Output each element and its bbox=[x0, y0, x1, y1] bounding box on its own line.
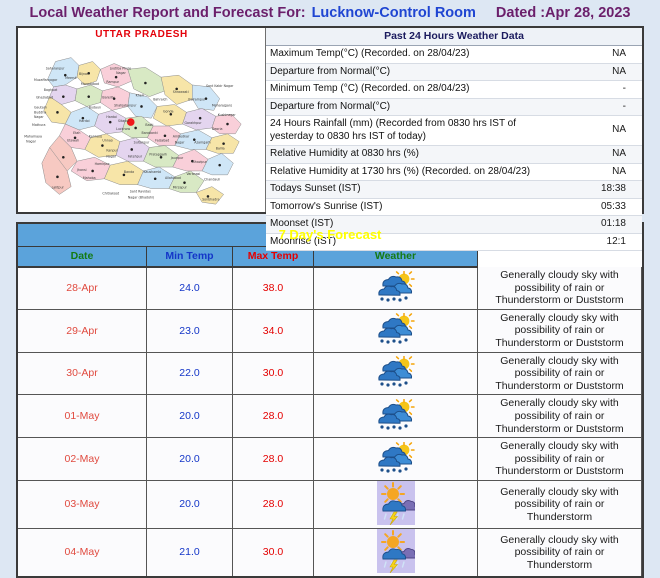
forecast-panel: 7 Day's Forecast Date Min Temp Max Temp … bbox=[16, 222, 644, 578]
forecast-description: Generally cloudy sky with possibility of… bbox=[478, 309, 642, 352]
column-header-date: Date bbox=[18, 247, 147, 267]
table-row: 24 Hours Rainfall (mm) (Recorded from 08… bbox=[266, 116, 642, 146]
forecast-date: 01-May bbox=[18, 395, 147, 438]
table-row: 02-May20.028.0Generally cloudy sky with … bbox=[18, 438, 642, 481]
svg-text:Ambedkar: Ambedkar bbox=[173, 135, 190, 139]
row-value: NA bbox=[560, 163, 642, 181]
svg-text:Mahamaya: Mahamaya bbox=[24, 135, 42, 139]
svg-text:Kannauj: Kannauj bbox=[89, 135, 102, 139]
table-row: 03-May20.028.0Generally cloudy sky with … bbox=[18, 480, 642, 528]
svg-text:Lalitpur: Lalitpur bbox=[52, 186, 65, 190]
row-value: 01:18 bbox=[560, 216, 642, 234]
svg-text:Unnao: Unnao bbox=[102, 139, 112, 143]
svg-text:Sant Ravidas: Sant Ravidas bbox=[130, 189, 151, 193]
svg-text:Gorakhpur: Gorakhpur bbox=[185, 121, 203, 125]
svg-text:Muzaffarnagar: Muzaffarnagar bbox=[34, 78, 58, 82]
svg-text:Mirzapur: Mirzapur bbox=[173, 186, 188, 190]
row-value: NA bbox=[560, 63, 642, 81]
forecast-min-temp: 20.0 bbox=[147, 438, 233, 481]
svg-text:Maharajganj: Maharajganj bbox=[212, 103, 232, 107]
forecast-date: 30-Apr bbox=[18, 352, 147, 395]
svg-text:Ballia: Ballia bbox=[216, 146, 225, 150]
title-location: Lucknow-Control Room bbox=[312, 5, 476, 21]
row-label: Todays Sunset (IST) bbox=[266, 181, 560, 199]
svg-text:Gonda: Gonda bbox=[163, 109, 174, 113]
forecast-min-temp: 20.0 bbox=[147, 480, 233, 528]
svg-text:Basti: Basti bbox=[145, 123, 153, 127]
table-row: Departure from Normal(°C) - bbox=[266, 98, 642, 116]
table-row: Todays Sunset (IST) 18:38 bbox=[266, 181, 642, 199]
svg-text:Hardoi: Hardoi bbox=[79, 119, 90, 123]
table-row: Relative Humidity at 0830 hrs (%) NA bbox=[266, 146, 642, 164]
forecast-date: 03-May bbox=[18, 480, 147, 528]
forecast-max-temp: 28.0 bbox=[233, 395, 314, 438]
svg-text:Nagar: Nagar bbox=[116, 71, 126, 75]
svg-text:Varanasi: Varanasi bbox=[186, 172, 200, 176]
svg-text:Etah: Etah bbox=[73, 131, 80, 135]
row-value: NA bbox=[560, 46, 642, 64]
svg-text:Faizabad: Faizabad bbox=[155, 139, 169, 143]
table-row: Maximum Temp(°C) (Recorded. on 28/04/23)… bbox=[266, 46, 642, 64]
svg-text:Mathura: Mathura bbox=[32, 123, 45, 127]
sun-behind-cloud-rain-icon bbox=[314, 395, 478, 438]
sun-behind-cloud-rain-icon bbox=[314, 309, 478, 352]
svg-text:Nagar: Nagar bbox=[175, 141, 185, 145]
svg-text:Pratapgarh: Pratapgarh bbox=[149, 152, 167, 156]
svg-text:Rampur: Rampur bbox=[106, 80, 119, 84]
row-label: 24 Hours Rainfall (mm) (Recorded from 08… bbox=[266, 116, 560, 146]
svg-text:Banda: Banda bbox=[124, 170, 134, 174]
past-24h-table: Past 24 Hours Weather Data Maximum Temp(… bbox=[266, 28, 642, 251]
sun-cloud-thunderstorm-icon bbox=[314, 480, 478, 528]
forecast-min-temp: 24.0 bbox=[147, 267, 233, 309]
forecast-min-temp: 23.0 bbox=[147, 309, 233, 352]
svg-text:Jyotiba Phule: Jyotiba Phule bbox=[109, 66, 131, 70]
column-header-min-temp: Min Temp bbox=[147, 247, 233, 267]
svg-text:Mahoba: Mahoba bbox=[83, 176, 96, 180]
svg-text:Allahabad: Allahabad bbox=[165, 176, 181, 180]
row-value: NA bbox=[560, 116, 642, 146]
forecast-description: Generally cloudy sky with possibility of… bbox=[478, 528, 642, 576]
svg-text:Ghazipur: Ghazipur bbox=[192, 160, 207, 164]
row-label: Minimum Temp (°C) (Recorded. on 28/04/23… bbox=[266, 81, 560, 99]
svg-text:Jhansi: Jhansi bbox=[76, 168, 87, 172]
row-value: 05:33 bbox=[560, 198, 642, 216]
svg-text:Gautam: Gautam bbox=[34, 105, 47, 109]
row-label: Departure from Normal(°C) bbox=[266, 63, 560, 81]
forecast-max-temp: 28.0 bbox=[233, 480, 314, 528]
svg-text:Nagar: Nagar bbox=[34, 115, 44, 119]
svg-text:Kushinagar: Kushinagar bbox=[218, 113, 237, 117]
svg-text:Fatehpur: Fatehpur bbox=[128, 154, 143, 158]
forecast-max-temp: 38.0 bbox=[233, 267, 314, 309]
svg-text:Nagar: Nagar bbox=[106, 154, 116, 158]
map-title: UTTAR PRADESH bbox=[18, 28, 265, 40]
forecast-description: Generally cloudy sky with possibility of… bbox=[478, 480, 642, 528]
svg-text:Nagar (Bhadohi): Nagar (Bhadohi) bbox=[128, 195, 154, 199]
forecast-date: 29-Apr bbox=[18, 309, 147, 352]
table-row: Relative Humidity at 1730 hrs (%) (Recor… bbox=[266, 163, 642, 181]
svg-text:Azamgarh: Azamgarh bbox=[194, 141, 210, 145]
row-label: Tomorrow's Sunrise (IST) bbox=[266, 198, 560, 216]
row-value: NA bbox=[560, 146, 642, 164]
title-date: Dated :Apr 28, 2023 bbox=[496, 5, 631, 21]
svg-text:Shrawasti: Shrawasti bbox=[173, 90, 189, 94]
table-row: 30-Apr22.030.0Generally cloudy sky with … bbox=[18, 352, 642, 395]
forecast-min-temp: 22.0 bbox=[147, 352, 233, 395]
sun-behind-cloud-rain-icon bbox=[314, 438, 478, 481]
forecast-date: 04-May bbox=[18, 528, 147, 576]
svg-text:Sonbhadra: Sonbhadra bbox=[202, 197, 219, 201]
svg-text:Sitapur: Sitapur bbox=[118, 119, 130, 123]
svg-text:Bareilly: Bareilly bbox=[102, 96, 114, 100]
forecast-table: Date Min Temp Max Temp Weather 28-Apr24.… bbox=[18, 247, 642, 576]
row-label: Relative Humidity at 0830 hrs (%) bbox=[266, 146, 560, 164]
map-cell: UTTAR PRADESH bbox=[18, 28, 266, 212]
svg-text:Chitrakoot: Chitrakoot bbox=[102, 191, 119, 195]
forecast-date: 02-May bbox=[18, 438, 147, 481]
forecast-date: 28-Apr bbox=[18, 267, 147, 309]
svg-text:Saharanpur: Saharanpur bbox=[46, 66, 65, 70]
table-row: Tomorrow's Sunrise (IST) 05:33 bbox=[266, 198, 642, 216]
row-value: - bbox=[560, 98, 642, 116]
svg-text:Meerut: Meerut bbox=[65, 76, 77, 80]
svg-text:Hardoi: Hardoi bbox=[106, 115, 117, 119]
forecast-min-temp: 20.0 bbox=[147, 395, 233, 438]
forecast-description: Generally cloudy sky with possibility of… bbox=[478, 352, 642, 395]
row-label: Maximum Temp(°C) (Recorded. on 28/04/23) bbox=[266, 46, 560, 64]
svg-text:Shahjahanpur: Shahjahanpur bbox=[114, 103, 137, 107]
uttar-pradesh-map: Saharanpur Muzaffarnagar Baghpat Ghaziab… bbox=[18, 40, 265, 212]
forecast-max-temp: 34.0 bbox=[233, 309, 314, 352]
row-value: - bbox=[560, 81, 642, 99]
forecast-description: Generally cloudy sky with possibility of… bbox=[478, 438, 642, 481]
table-row: 28-Apr24.038.0Generally cloudy sky with … bbox=[18, 267, 642, 309]
svg-text:Chandauli: Chandauli bbox=[204, 178, 220, 182]
forecast-max-temp: 28.0 bbox=[233, 438, 314, 481]
table-row: Departure from Normal(°C) NA bbox=[266, 63, 642, 81]
svg-text:Kheri: Kheri bbox=[136, 94, 144, 98]
svg-text:Sant Kabir Nagar: Sant Kabir Nagar bbox=[206, 84, 234, 88]
title-text: Local Weather Report and Forecast For: bbox=[29, 5, 305, 21]
row-label: Relative Humidity at 1730 hrs (%) (Recor… bbox=[266, 163, 560, 181]
svg-text:Budaun: Budaun bbox=[89, 105, 101, 109]
svg-text:Sultanpur: Sultanpur bbox=[134, 141, 150, 145]
svg-text:Balrampur: Balrampur bbox=[188, 98, 206, 102]
sun-behind-cloud-rain-icon bbox=[314, 267, 478, 309]
table-row: 01-May20.028.0Generally cloudy sky with … bbox=[18, 395, 642, 438]
forecast-max-temp: 30.0 bbox=[233, 528, 314, 576]
row-value: 12:1 bbox=[560, 233, 642, 251]
row-value: 18:38 bbox=[560, 181, 642, 199]
forecast-min-temp: 21.0 bbox=[147, 528, 233, 576]
page-title: Local Weather Report and Forecast For: L… bbox=[0, 0, 660, 26]
table-row: 29-Apr23.034.0Generally cloudy sky with … bbox=[18, 309, 642, 352]
forecast-description: Generally cloudy sky with possibility of… bbox=[478, 267, 642, 309]
forecast-max-temp: 30.0 bbox=[233, 352, 314, 395]
svg-text:Kaushambi: Kaushambi bbox=[143, 170, 161, 174]
svg-text:Buddha: Buddha bbox=[34, 110, 46, 114]
past-24h-table-cell: Past 24 Hours Weather Data Maximum Temp(… bbox=[266, 28, 642, 212]
svg-text:Barabanki: Barabanki bbox=[142, 131, 158, 135]
sun-behind-cloud-rain-icon bbox=[314, 352, 478, 395]
svg-text:Hamirpur: Hamirpur bbox=[95, 162, 111, 166]
svg-text:Kanpur: Kanpur bbox=[106, 148, 118, 152]
svg-text:Moradabad: Moradabad bbox=[81, 82, 99, 86]
svg-text:Bijnor: Bijnor bbox=[79, 72, 89, 76]
svg-text:Baghpat: Baghpat bbox=[44, 88, 58, 92]
table-row: Minimum Temp (°C) (Recorded. on 28/04/23… bbox=[266, 81, 642, 99]
svg-text:Etawah: Etawah bbox=[67, 139, 79, 143]
row-label: Departure from Normal(°C) bbox=[266, 98, 560, 116]
past-24h-title: Past 24 Hours Weather Data bbox=[266, 28, 642, 46]
forecast-description: Generally cloudy sky with possibility of… bbox=[478, 395, 642, 438]
svg-text:Deoria: Deoria bbox=[212, 127, 223, 131]
svg-text:Jaunpur: Jaunpur bbox=[170, 156, 184, 160]
svg-text:Lucknow: Lucknow bbox=[116, 127, 130, 131]
svg-text:Bahraich: Bahraich bbox=[153, 98, 167, 102]
table-row: 04-May21.030.0Generally cloudy sky with … bbox=[18, 528, 642, 576]
svg-text:Nagar: Nagar bbox=[26, 140, 36, 144]
svg-text:Ghaziabad: Ghaziabad bbox=[36, 96, 53, 100]
sun-cloud-thunderstorm-icon bbox=[314, 528, 478, 576]
top-panel: UTTAR PRADESH bbox=[16, 26, 644, 214]
